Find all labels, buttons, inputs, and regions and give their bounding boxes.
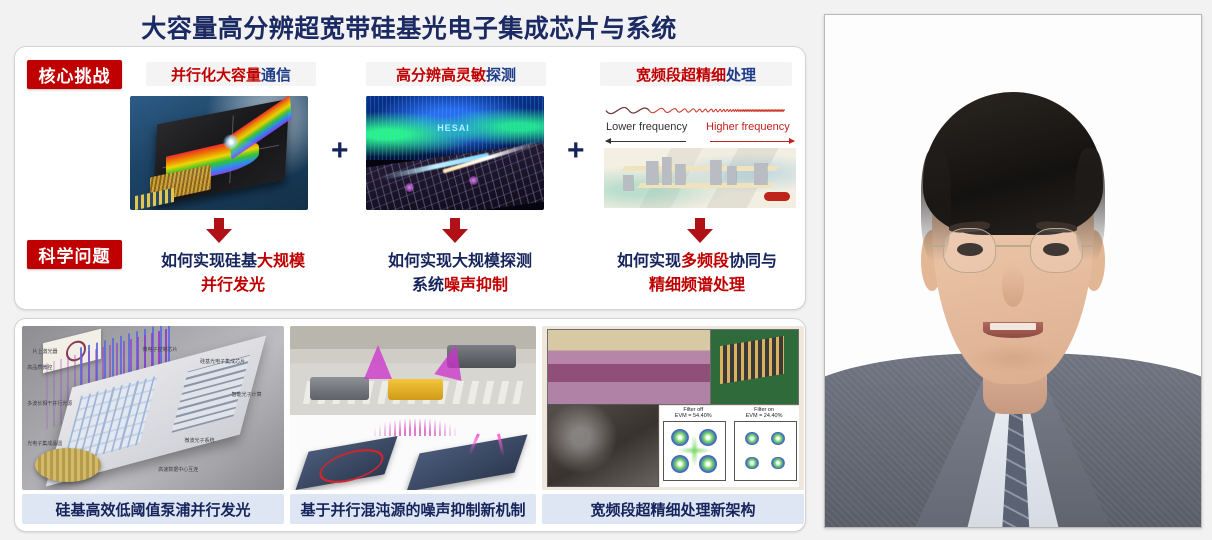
portrait-photo — [824, 14, 1202, 528]
autonomous-driving-lidar-image — [290, 326, 536, 490]
down-arrow-icon-3 — [687, 218, 713, 244]
right-arrow-icon — [710, 141, 794, 142]
electronic-slab-shape — [406, 434, 527, 490]
scientific-question-2: 如何实现大规模探测 系统噪声抑制 — [360, 250, 560, 298]
light-spot-shape — [223, 134, 239, 150]
schematic-micro-label: 高速数据中心互连 — [158, 467, 198, 473]
plot-2-evm-text: EVM = 24.40% — [746, 413, 783, 419]
lab-setup-photo — [547, 404, 659, 486]
schematic-micro-label: 多波长相干并行光源 — [27, 401, 72, 407]
scientific-question-3: 如何实现多频段协同与 精细频谱处理 — [592, 250, 802, 298]
vehicle-shape — [388, 379, 442, 400]
teeth-shape — [990, 323, 1035, 330]
glasses-bridge — [996, 245, 1030, 246]
schematic-micro-label: 智能光子计算 — [232, 392, 262, 398]
sci-1-line2: 并行发光 — [201, 277, 265, 294]
chirp-waveform-icon — [604, 98, 796, 123]
constellation-plots: Filter off EVM = 54.40% Filter on EVM = … — [660, 406, 799, 486]
down-arrow-icon-2 — [442, 218, 468, 244]
schematic-micro-label: 光电子集成晶圆 — [27, 441, 62, 447]
result-caption-3: 宽频段超精细处理新架构 — [542, 494, 804, 524]
waveguide-dot-shape — [405, 183, 414, 192]
packaged-module-photo — [710, 329, 798, 405]
vehicle-shape — [310, 377, 369, 400]
glasses-temple-right — [1081, 245, 1100, 246]
constellation-blob — [699, 455, 717, 472]
constellation-blob — [771, 457, 784, 470]
constellation-plot-filter-on — [734, 421, 797, 481]
column-header-2-blue: 探测 — [486, 64, 516, 85]
plus-separator-1: + — [331, 136, 349, 166]
result-caption-2: 基于并行混沌源的噪声抑制新机制 — [290, 494, 536, 524]
core-challenge-tag: 核心挑战 — [27, 60, 122, 89]
smart-city-illustration — [604, 148, 796, 207]
column-header-1: 并行化大容量通信 — [146, 62, 316, 86]
column-header-2-red: 高分辨高灵敏 — [396, 64, 486, 85]
constellation-blob — [699, 429, 717, 446]
silicon-photonic-chip-image — [130, 96, 308, 210]
scientific-question-tag: 科学问题 — [27, 240, 122, 269]
constellation-plot-filter-off — [663, 421, 726, 481]
screenshot-root: 大容量高分辨超宽带硅基光电子集成芯片与系统 核心挑战 科学问题 并行化大容量通信… — [0, 0, 1212, 540]
column-header-1-blue: 通信 — [261, 64, 291, 85]
plus-separator-2: + — [567, 136, 585, 166]
glasses-temple-left — [927, 245, 946, 246]
constellation-blob — [771, 432, 784, 445]
lidar-point-cloud-image: HESAI — [366, 96, 544, 210]
result-caption-1: 硅基高效低阈值泵浦并行发光 — [22, 494, 284, 524]
chaotic-source-schematic — [290, 415, 536, 490]
schematic-micro-label: 微电子控制芯片 — [143, 347, 178, 353]
schematic-micro-label: 硅基光电子集成芯片 — [200, 359, 245, 365]
poster-panel: 大容量高分辨超宽带硅基光电子集成芯片与系统 核心挑战 科学问题 并行化大容量通信… — [0, 0, 818, 540]
nose-shape — [1002, 266, 1025, 307]
schematic-micro-label: 微波光子系统 — [184, 438, 214, 444]
frequency-axis-row: Lower frequency Higher frequency — [600, 121, 800, 151]
lidar-beam-cone — [434, 341, 469, 381]
lidar-beam-cone — [364, 345, 392, 379]
sci-2-line2-red: 噪声抑制 — [444, 277, 508, 294]
column-header-1-red: 并行化大容量 — [171, 64, 261, 85]
constellation-blob — [745, 457, 758, 470]
glasses-lens-left — [943, 228, 996, 273]
down-arrow-icon-1 — [206, 218, 232, 244]
micrograph-constellation-image: Filter off EVM = 54.40% Filter on EVM = … — [542, 326, 804, 490]
plot-1-title: Filter off EVM = 54.40% — [663, 407, 724, 419]
column-header-3-red: 宽频段超精细 — [636, 64, 726, 85]
building-shape — [623, 175, 633, 192]
sci-1-part2: 大规模 — [257, 253, 305, 270]
wafer-shape — [35, 448, 101, 482]
plot-2-title: Filter on EVM = 24.40% — [734, 407, 795, 419]
hesai-label: HESAI — [437, 123, 470, 133]
constellation-blob — [671, 455, 689, 472]
pcb-pads-shape — [135, 188, 174, 210]
sci-3-line2: 精细频谱处理 — [649, 277, 745, 294]
photonic-chip-schematic-image: 片上激光器 高品质微腔 微电子控制芯片 硅基光电子集成芯片 多波长相干并行光源 … — [22, 326, 284, 490]
chip-cross-section-micrograph — [547, 329, 711, 405]
city-highlight-badge — [764, 192, 790, 201]
left-arrow-icon — [606, 141, 686, 142]
plot-1-evm-text: EVM = 54.40% — [675, 413, 712, 419]
building-shape — [727, 166, 737, 185]
lower-frequency-label: Lower frequency — [606, 121, 687, 133]
sci-1-part1: 如何实现硅基 — [161, 253, 257, 270]
signal-comb-shape — [374, 419, 458, 436]
higher-frequency-label: Higher frequency — [706, 121, 790, 133]
sci-2-line2-blue: 系统 — [412, 277, 444, 294]
building-shape — [675, 164, 685, 185]
waveguide-dot-shape — [469, 176, 478, 185]
column-header-2: 高分辨高灵敏探测 — [366, 62, 546, 86]
building-shape — [710, 160, 722, 185]
chin-shadow-shape — [968, 343, 1058, 374]
street-scene-shape — [290, 326, 536, 415]
sci-3-part2: 多频段 — [681, 253, 729, 270]
sci-2-part2: 大规模探测 — [452, 253, 532, 270]
building-shape — [646, 161, 658, 185]
frequency-city-image: Lower frequency Higher frequency — [600, 96, 800, 210]
scientific-question-1: 如何实现硅基大规模 并行发光 — [138, 250, 328, 298]
sci-2-part1: 如何实现 — [388, 253, 452, 270]
sci-3-part3: 协同与 — [729, 253, 777, 270]
constellation-blob — [745, 432, 758, 445]
sci-3-part1: 如何实现 — [617, 253, 681, 270]
column-header-3-blue: 处理 — [726, 64, 756, 85]
column-header-3: 宽频段超精细处理 — [600, 62, 792, 86]
glasses-lens-right — [1030, 228, 1083, 273]
schematic-micro-label: 片上激光器 — [32, 349, 57, 355]
building-shape — [754, 163, 767, 186]
page-title: 大容量高分辨超宽带硅基光电子集成芯片与系统 — [0, 9, 818, 45]
building-shape — [662, 157, 672, 185]
schematic-micro-label: 高品质微腔 — [27, 365, 52, 371]
